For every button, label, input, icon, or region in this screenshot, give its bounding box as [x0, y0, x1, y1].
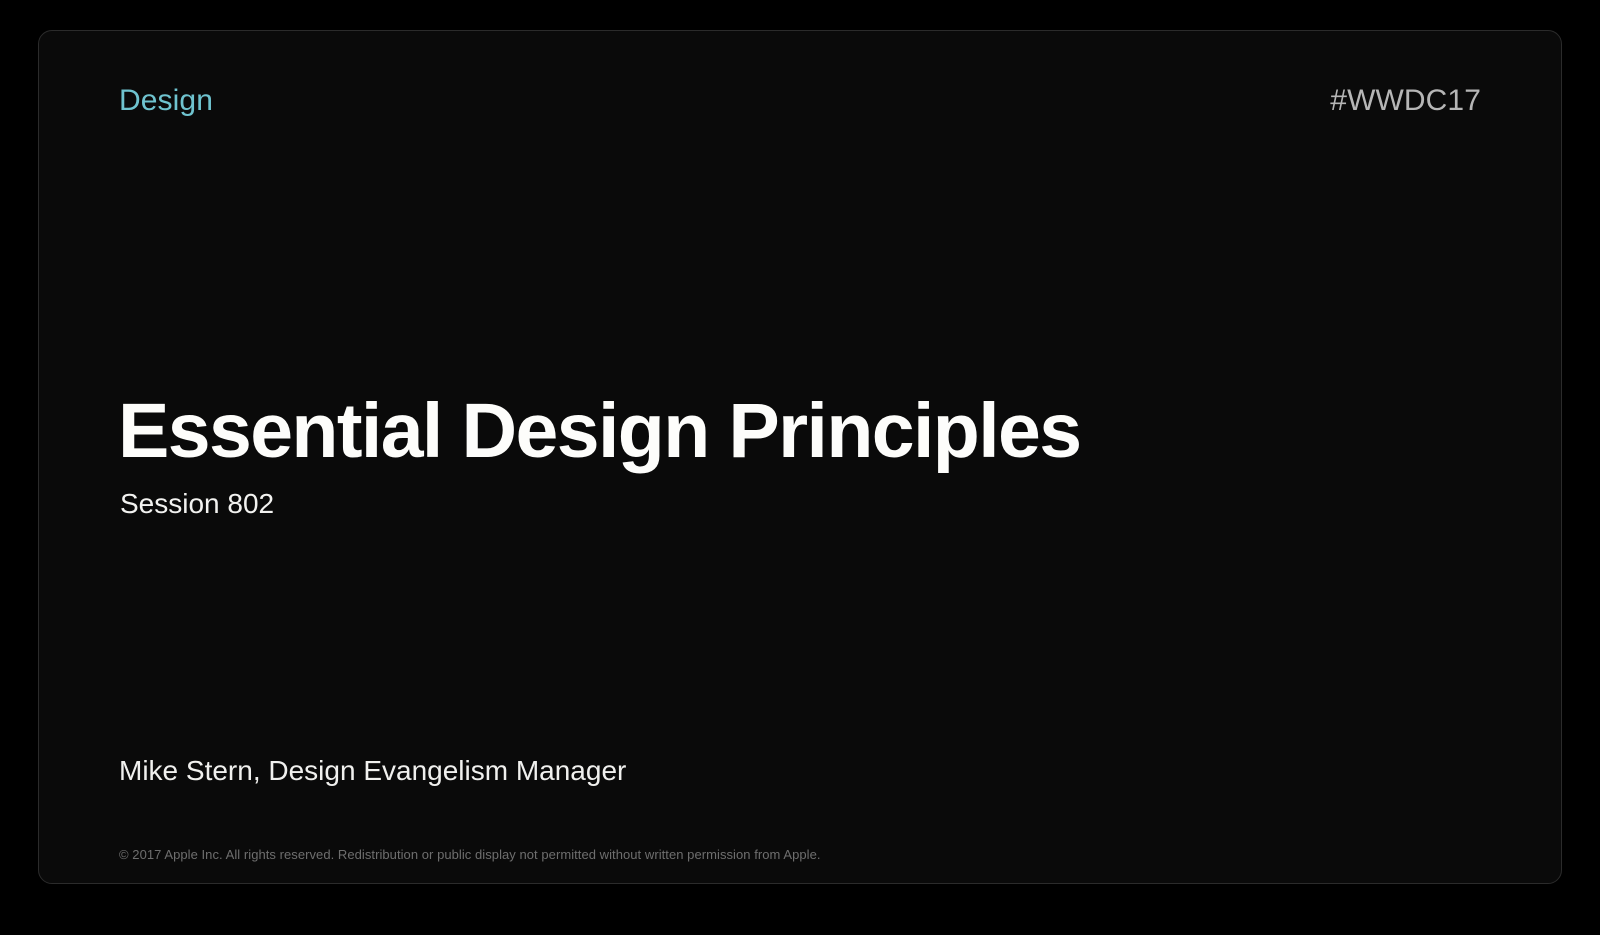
slide-title: Essential Design Principles [118, 391, 1501, 473]
slide-header: Design #WWDC17 [119, 79, 1481, 123]
presentation-slide: Design #WWDC17 Essential Design Principl… [38, 30, 1562, 884]
presenter-name-and-role: Mike Stern, Design Evangelism Manager [119, 754, 626, 788]
title-block: Essential Design Principles Session 802 [118, 391, 1501, 520]
session-number-label: Session 802 [120, 487, 1501, 521]
session-category-label: Design [119, 86, 213, 116]
copyright-notice: © 2017 Apple Inc. All rights reserved. R… [119, 847, 821, 864]
event-hashtag-label: #WWDC17 [1330, 86, 1481, 116]
page-root: Design #WWDC17 Essential Design Principl… [0, 0, 1600, 935]
